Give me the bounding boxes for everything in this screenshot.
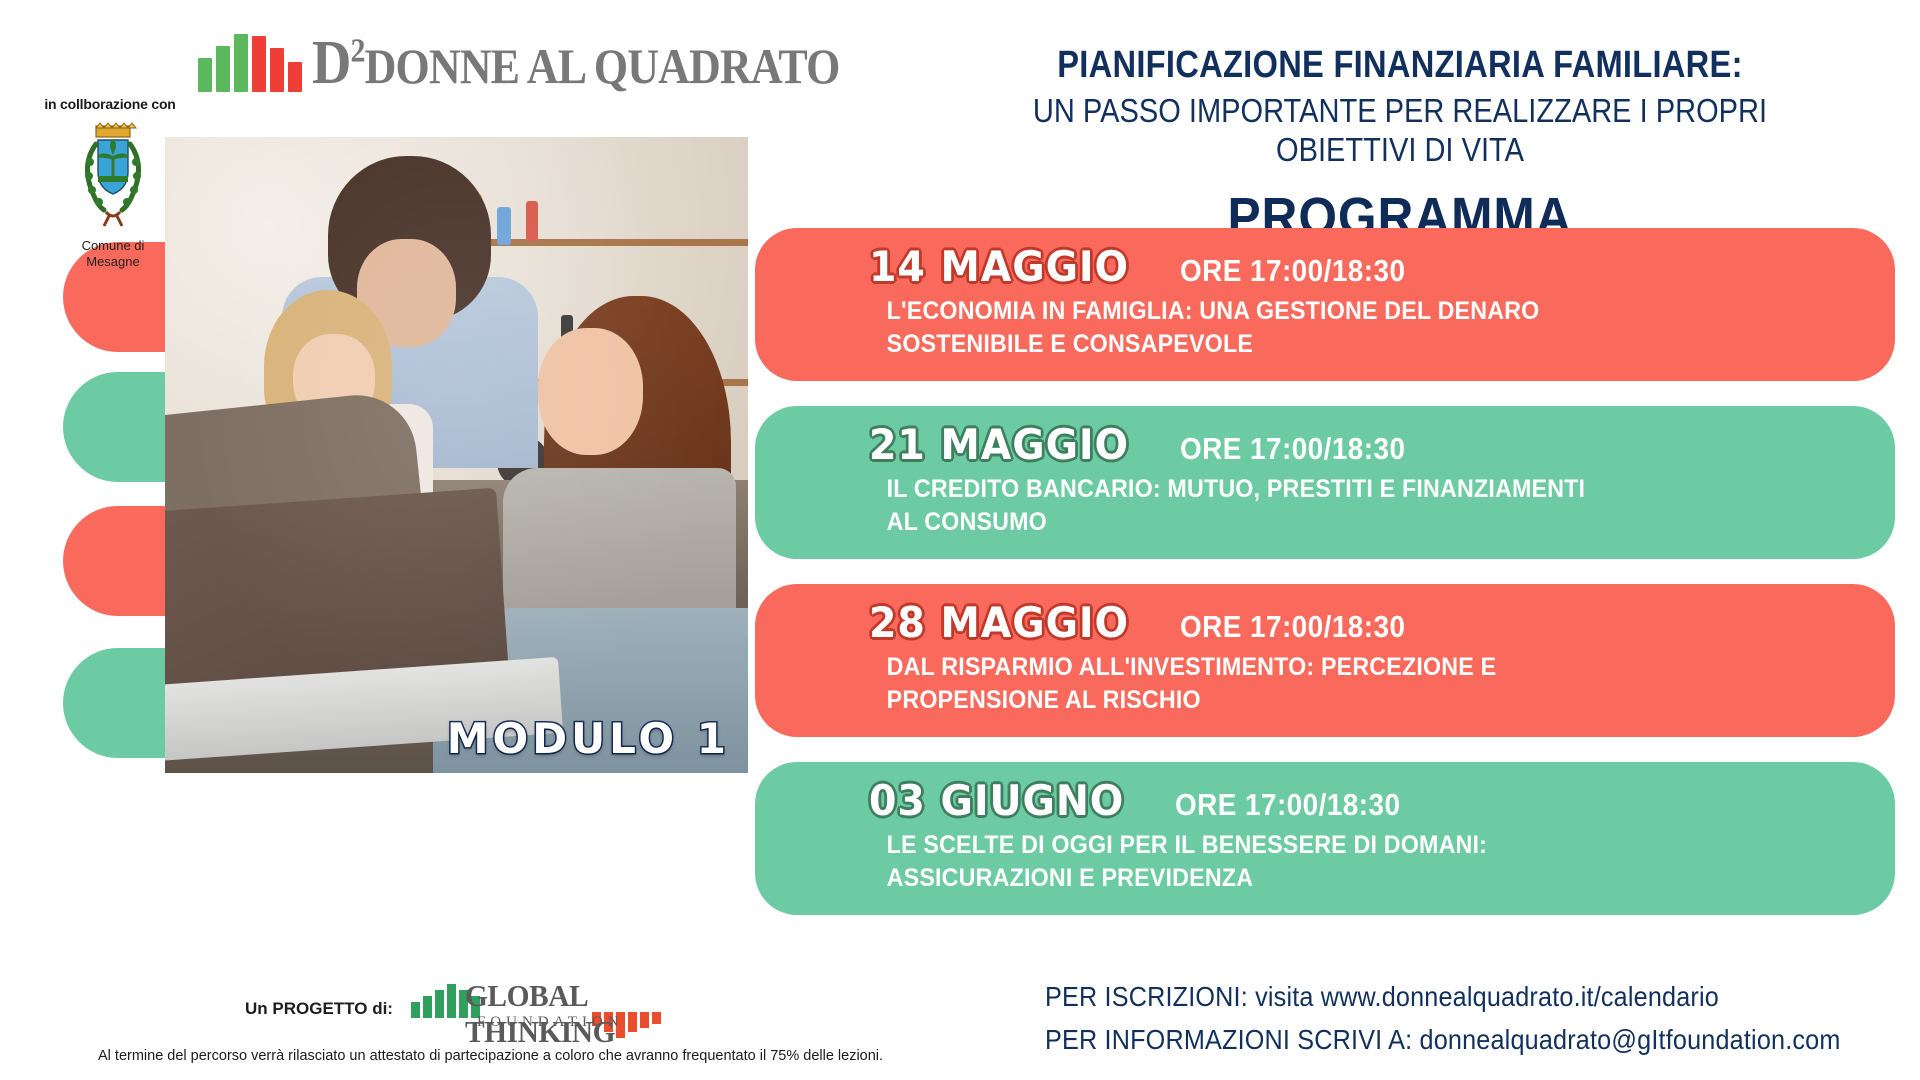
session-date: 14 MAGGIO	[869, 242, 1129, 291]
gtf-red-bar-6	[652, 1012, 661, 1024]
session-description-line1: L'ECONOMIA IN FAMIGLIA: UNA GESTIONE DEL…	[887, 295, 1786, 328]
session-date: 28 MAGGIO	[869, 598, 1129, 647]
session-card-list: 14 MAGGIOORE 17:00/18:30L'ECONOMIA IN FA…	[755, 228, 1895, 940]
gtf-green-bar-2	[423, 996, 432, 1018]
brand-logo-exponent: 2	[351, 32, 365, 69]
session-card-header: 28 MAGGIOORE 17:00/18:30	[789, 598, 1861, 647]
headline-subtitle: UN PASSO IMPORTANTE PER REALIZZARE I PRO…	[995, 91, 1805, 170]
gtf-subname: FOUNDATION	[477, 1014, 624, 1031]
session-time: ORE 17:00/18:30	[1175, 787, 1400, 823]
session-card: 14 MAGGIOORE 17:00/18:30L'ECONOMIA IN FA…	[755, 228, 1895, 381]
brand-bar-4	[252, 36, 266, 92]
brand-bar-5	[270, 48, 284, 92]
gtf-green-bar-3	[435, 990, 444, 1018]
session-card: 21 MAGGIOORE 17:00/18:30IL CREDITO BANCA…	[755, 406, 1895, 559]
global-thinking-foundation-logo: GLOBAL THINKING FOUNDATION	[411, 978, 661, 1040]
family-photo: MODULO 1	[165, 137, 748, 773]
session-description-line1: DAL RISPARMIO ALL'INVESTIMENTO: PERCEZIO…	[887, 651, 1786, 684]
brand-logo-letter: D	[312, 29, 351, 97]
contact-block: PER ISCRIZIONI: visita www.donnealquadra…	[1045, 975, 1905, 1062]
project-credit-label: Un PROGETTO di:	[245, 999, 393, 1019]
footnote: Al termine del percorso verrà rilasciato…	[98, 1048, 998, 1064]
session-time: ORE 17:00/18:30	[1180, 609, 1405, 645]
session-time: ORE 17:00/18:30	[1180, 253, 1405, 289]
session-card-header: 14 MAGGIOORE 17:00/18:30	[789, 242, 1861, 291]
brand-logo: D2DONNE AL QUADRATO	[198, 28, 738, 92]
headline-subtitle-line1: UN PASSO IMPORTANTE PER REALIZZARE I PRO…	[995, 91, 1805, 131]
session-description-line1: IL CREDITO BANCARIO: MUTUO, PRESTITI E F…	[887, 473, 1786, 506]
brand-bar-1	[198, 58, 212, 92]
session-description-line1: LE SCELTE DI OGGI PER IL BENESSERE DI DO…	[887, 829, 1786, 862]
session-description-line2: PROPENSIONE AL RISCHIO	[887, 684, 1786, 717]
session-card: 28 MAGGIOORE 17:00/18:30DAL RISPARMIO AL…	[755, 584, 1895, 737]
page-title: PIANIFICAZIONE FINANZIARIA FAMILIARE:	[1004, 44, 1795, 87]
session-description: DAL RISPARMIO ALL'INVESTIMENTO: PERCEZIO…	[789, 651, 1786, 717]
project-credit: Un PROGETTO di: GLOBAL THINKING FOUNDATI…	[245, 978, 745, 1040]
information-line[interactable]: PER INFORMAZIONI SCRIVI A: donnealquadra…	[1045, 1018, 1819, 1061]
collaboration-block: in collborazione con Comune di Me	[48, 96, 178, 271]
session-card: 03 GIUGNOORE 17:00/18:30LE SCELTE DI OGG…	[755, 762, 1895, 915]
brand-bar-6	[288, 62, 302, 92]
session-date: 03 GIUGNO	[869, 776, 1124, 825]
session-description: IL CREDITO BANCARIO: MUTUO, PRESTITI E F…	[789, 473, 1786, 539]
session-card-header: 03 GIUGNOORE 17:00/18:30	[789, 776, 1861, 825]
session-description: LE SCELTE DI OGGI PER IL BENESSERE DI DO…	[789, 829, 1786, 895]
photo-haze	[165, 137, 748, 773]
brand-bars-icon	[198, 28, 302, 92]
headline-subtitle-line2: OBIETTIVI DI VITA	[995, 130, 1805, 170]
crest-name-line2: Mesagne	[86, 254, 139, 269]
session-description-line2: SOSTENIBILE E CONSAPEVOLE	[887, 328, 1786, 361]
registration-line[interactable]: PER ISCRIZIONI: visita www.donnealquadra…	[1045, 975, 1819, 1018]
crest-name-line1: Comune di	[82, 238, 145, 253]
comune-di-mesagne-crest-icon	[70, 122, 156, 234]
session-date: 21 MAGGIO	[869, 420, 1129, 469]
crest-name: Comune di Mesagne	[48, 238, 178, 271]
brand-bar-3	[234, 34, 248, 92]
gtf-green-bar-4	[447, 984, 456, 1018]
headline-block: PIANIFICAZIONE FINANZIARIA FAMILIARE: UN…	[940, 44, 1860, 248]
session-description: L'ECONOMIA IN FAMIGLIA: UNA GESTIONE DEL…	[789, 295, 1786, 361]
session-card-header: 21 MAGGIOORE 17:00/18:30	[789, 420, 1861, 469]
gtf-green-bar-1	[411, 1002, 420, 1018]
collaboration-label: in collborazione con	[42, 96, 178, 112]
session-description-line2: ASSICURAZIONI E PREVIDENZA	[887, 862, 1786, 895]
session-description-line2: AL CONSUMO	[887, 506, 1786, 539]
module-badge: MODULO 1	[447, 714, 730, 763]
session-time: ORE 17:00/18:30	[1180, 431, 1405, 467]
brand-wordmark: D2DONNE AL QUADRATO	[312, 35, 839, 92]
brand-bar-2	[216, 46, 230, 92]
brand-logo-words: DONNE AL QUADRATO	[365, 38, 840, 94]
